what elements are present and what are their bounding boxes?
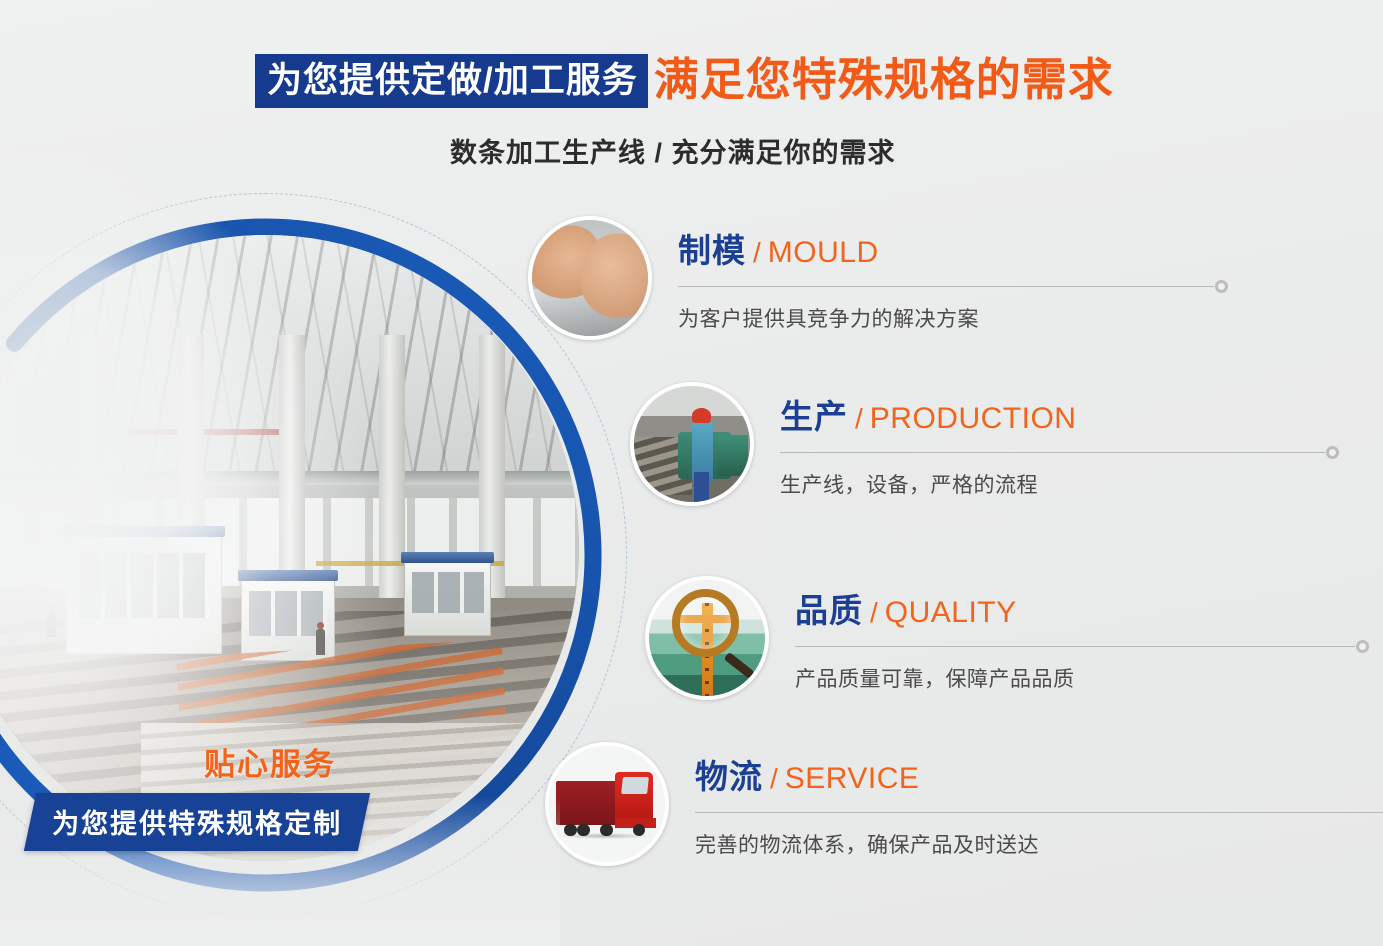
hand-scribing-tool-icon [528, 216, 652, 340]
feature-item-quality[interactable]: 品质/QUALITY 产品质量可靠，保障产品品质 [645, 576, 1355, 700]
feature-divider [780, 452, 1325, 453]
feature-heading: 品质/QUALITY [795, 594, 1355, 628]
divider-end-dot-icon [1326, 446, 1339, 459]
feature-title-cn: 生产 [780, 398, 848, 435]
feature-title-cn: 制模 [678, 232, 746, 269]
feature-title-cn: 品质 [795, 592, 863, 629]
promo-banner-stage: 为您提供定做/加工服务 满足您特殊规格的需求 数条加工生产线 / 充分满足你的需… [0, 0, 1383, 946]
worker-legs [694, 472, 709, 502]
divider-end-dot-icon [1356, 640, 1369, 653]
feature-description: 生产线，设备，严格的流程 [780, 469, 1325, 499]
title-badge: 为您提供定做/加工服务 [255, 54, 648, 108]
magnifying-glass-icon [645, 576, 769, 700]
feature-title-cn: 物流 [695, 758, 763, 795]
feature-description: 完善的物流体系，确保产品及时送达 [695, 829, 1383, 859]
feature-item-mould[interactable]: 制模/MOULD 为客户提供具竞争力的解决方案 [528, 216, 1214, 340]
feature-item-production[interactable]: 生产/PRODUCTION 生产线，设备，严格的流程 [630, 382, 1325, 506]
truck-windshield [621, 777, 648, 794]
feature-text-production: 生产/PRODUCTION 生产线，设备，严格的流程 [754, 382, 1325, 499]
feature-text-mould: 制模/MOULD 为客户提供具竞争力的解决方案 [652, 216, 1214, 333]
magnifier-lens [672, 589, 739, 656]
green-machine [718, 435, 748, 477]
divider-end-dot-icon [1215, 280, 1228, 293]
page-title: 为您提供定做/加工服务 满足您特殊规格的需求 [255, 54, 1114, 108]
service-title: 贴心服务 [150, 739, 390, 784]
title-accent: 满足您特殊规格的需求 [654, 57, 1114, 102]
header: 为您提供定做/加工服务 满足您特殊规格的需求 数条加工生产线 / 充分满足你的需… [0, 0, 1383, 190]
feature-item-service[interactable]: 物流/SERVICE 完善的物流体系，确保产品及时送达 [545, 742, 1383, 866]
mould-thumb-art [532, 220, 648, 336]
red-helmet [692, 408, 711, 423]
feature-title-en: PRODUCTION [870, 402, 1077, 435]
feature-slash: / [855, 403, 863, 434]
feature-heading: 物流/SERVICE [695, 760, 1383, 794]
truck-shadow [556, 833, 653, 839]
service-banner: 为您提供特殊规格定制 [24, 793, 370, 851]
truck-trailer [556, 781, 619, 825]
feature-divider [678, 286, 1214, 287]
feature-slash: / [870, 597, 878, 628]
feature-heading: 生产/PRODUCTION [780, 400, 1325, 434]
red-truck-icon [545, 742, 669, 866]
feature-divider [695, 812, 1383, 813]
feature-description: 为客户提供具竞争力的解决方案 [678, 303, 1214, 333]
feature-description: 产品质量可靠，保障产品品质 [795, 663, 1355, 693]
magnifier-handle [724, 652, 755, 679]
feature-slash: / [770, 763, 778, 794]
production-thumb-art [634, 386, 750, 502]
page-subtitle: 数条加工生产线 / 充分满足你的需求 [450, 131, 896, 170]
feature-text-service: 物流/SERVICE 完善的物流体系，确保产品及时送达 [669, 742, 1383, 859]
feature-title-en: QUALITY [885, 596, 1017, 629]
feature-title-en: SERVICE [785, 762, 920, 795]
factory-worker-icon [630, 382, 754, 506]
service-banner-label: 为您提供特殊规格定制 [52, 802, 342, 841]
service-thumb-art [549, 746, 665, 862]
service-block: 贴心服务 为您提供特殊规格定制 [30, 739, 390, 851]
feature-text-quality: 品质/QUALITY 产品质量可靠，保障产品品质 [769, 576, 1355, 693]
feature-heading: 制模/MOULD [678, 234, 1214, 268]
feature-title-en: MOULD [768, 236, 879, 269]
feature-divider [795, 646, 1355, 647]
feature-slash: / [753, 237, 761, 268]
quality-thumb-art [649, 580, 765, 696]
